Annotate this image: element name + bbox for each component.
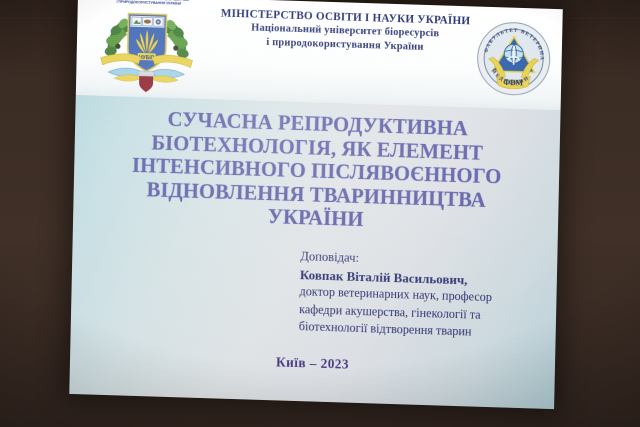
presentation-slide: НУБіП — [69, 0, 563, 409]
slide-title: СУЧАСНА РЕПРОДУКТИВНА БІОТЕХНОЛОГІЯ, ЯК … — [85, 106, 548, 238]
slide-footer-place-year: Київ – 2023 — [70, 348, 555, 379]
slide-header: НУБіП — [76, 0, 563, 110]
svg-text:НУБіП: НУБіП — [139, 55, 155, 61]
ministry-university-heading: МІНІСТЕРСТВО ОСВІТИ І НАУКИ УКРАЇНИ Наці… — [195, 6, 496, 56]
nubip-coat-of-arms-icon: НУБіП — [94, 0, 200, 97]
projected-slide-photo: НУБіП — [0, 0, 640, 427]
veterinary-faculty-emblem-icon: ФВМ ФАКУЛЬТЕТ ВЕТЕРИНАРНОЇ МЕДИЦИНИ — [474, 18, 554, 98]
presenter-block: Доповідач: Ковпак Віталій Васильович, до… — [299, 248, 561, 344]
